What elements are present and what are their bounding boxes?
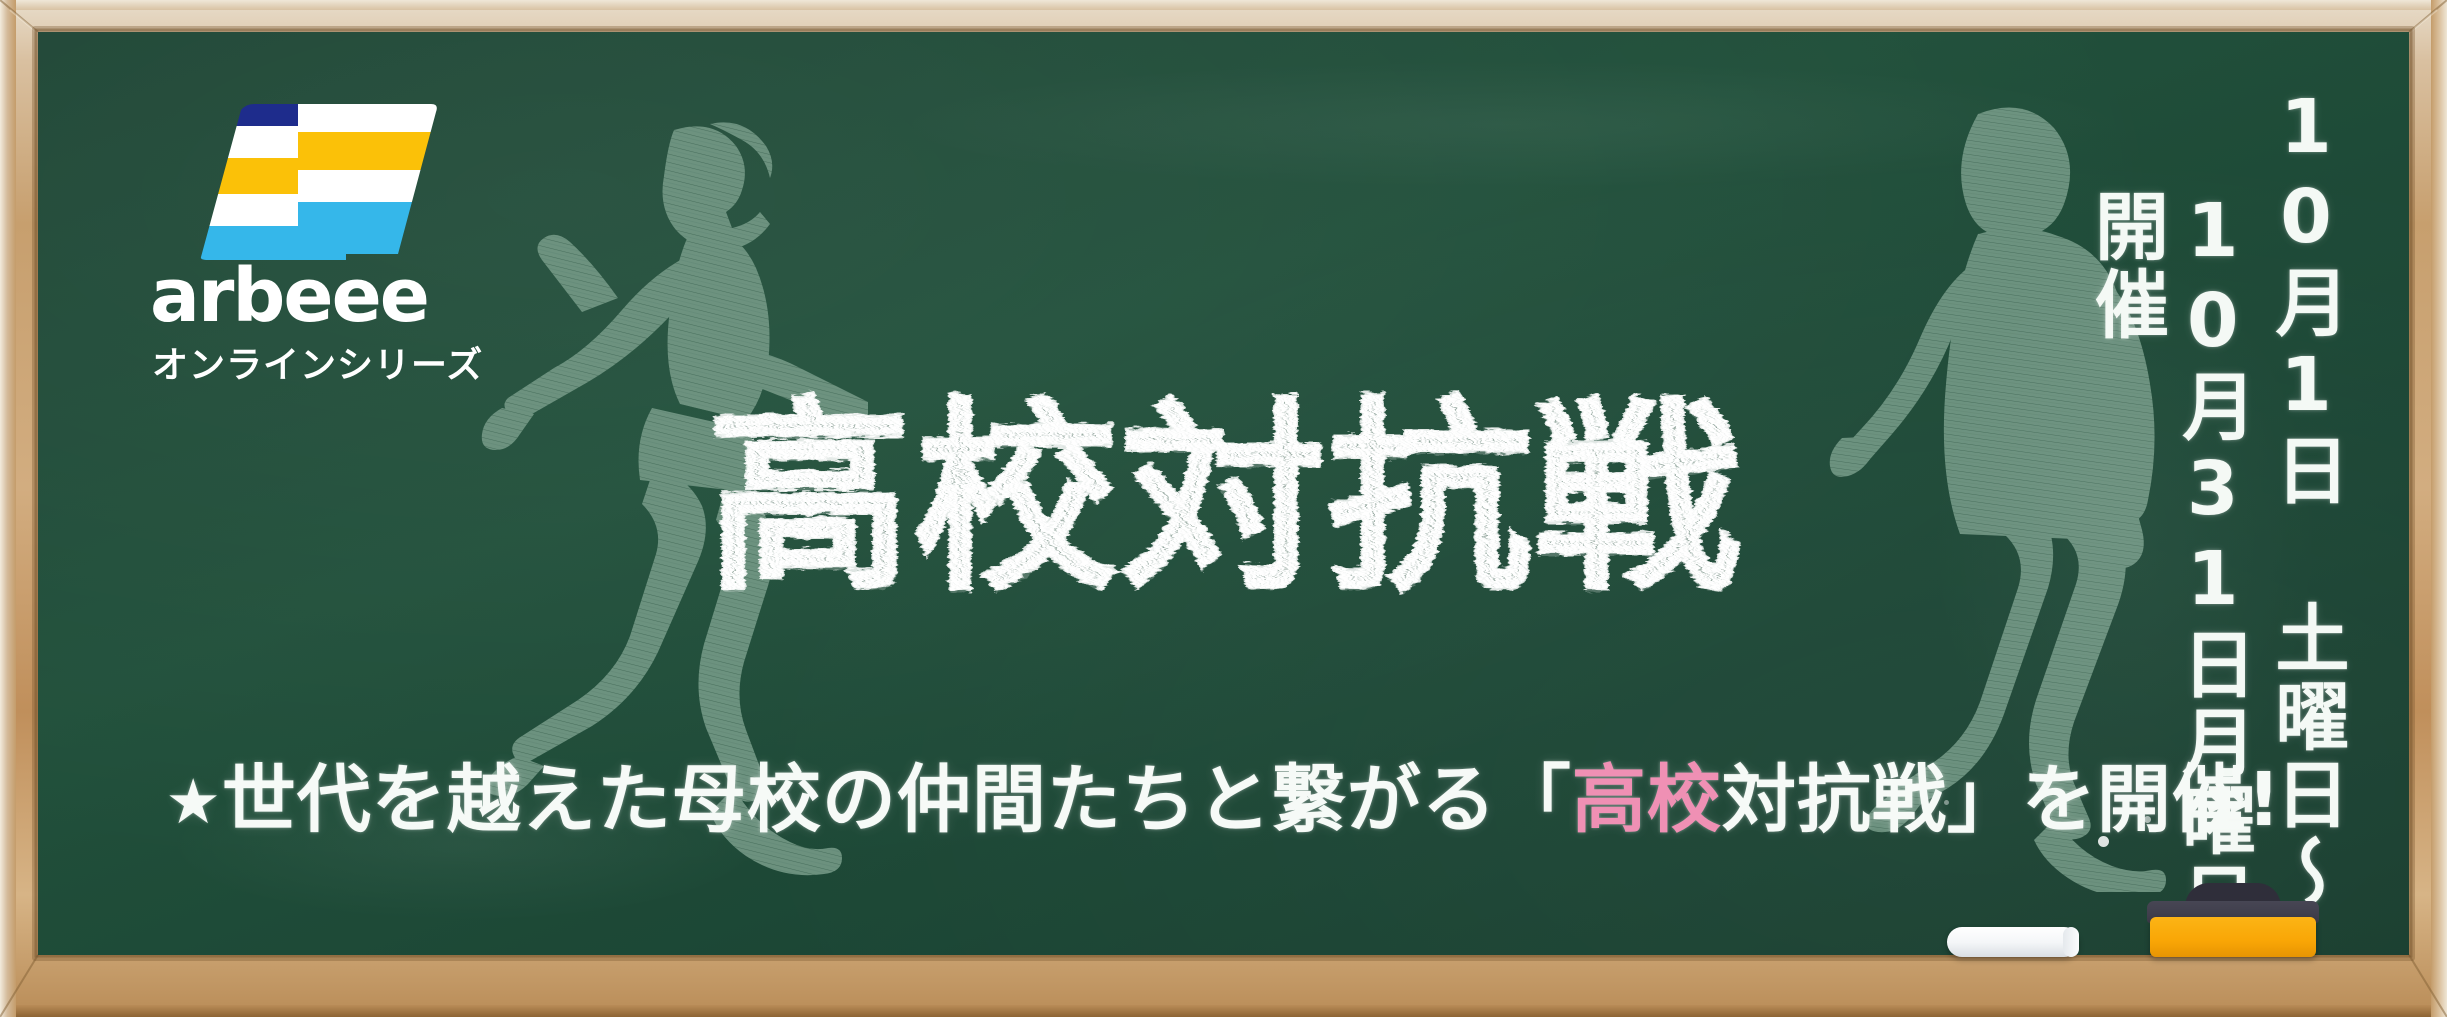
board-inner-shadow bbox=[32, 26, 2415, 961]
chalkboard-wrap: arbeee オンラインシリーズ bbox=[38, 32, 2409, 955]
frame-bottom-bevel bbox=[0, 1005, 2447, 1017]
frame-top-bevel bbox=[0, 0, 2447, 10]
chalk-stick[interactable] bbox=[1947, 927, 2079, 957]
eraser-body bbox=[2150, 917, 2316, 957]
frame-left-bevel bbox=[0, 0, 16, 1017]
blackboard-eraser[interactable] bbox=[2147, 895, 2319, 957]
frame-right-bevel bbox=[2431, 0, 2447, 1017]
banner-canvas: arbeee オンラインシリーズ bbox=[0, 0, 2447, 1017]
